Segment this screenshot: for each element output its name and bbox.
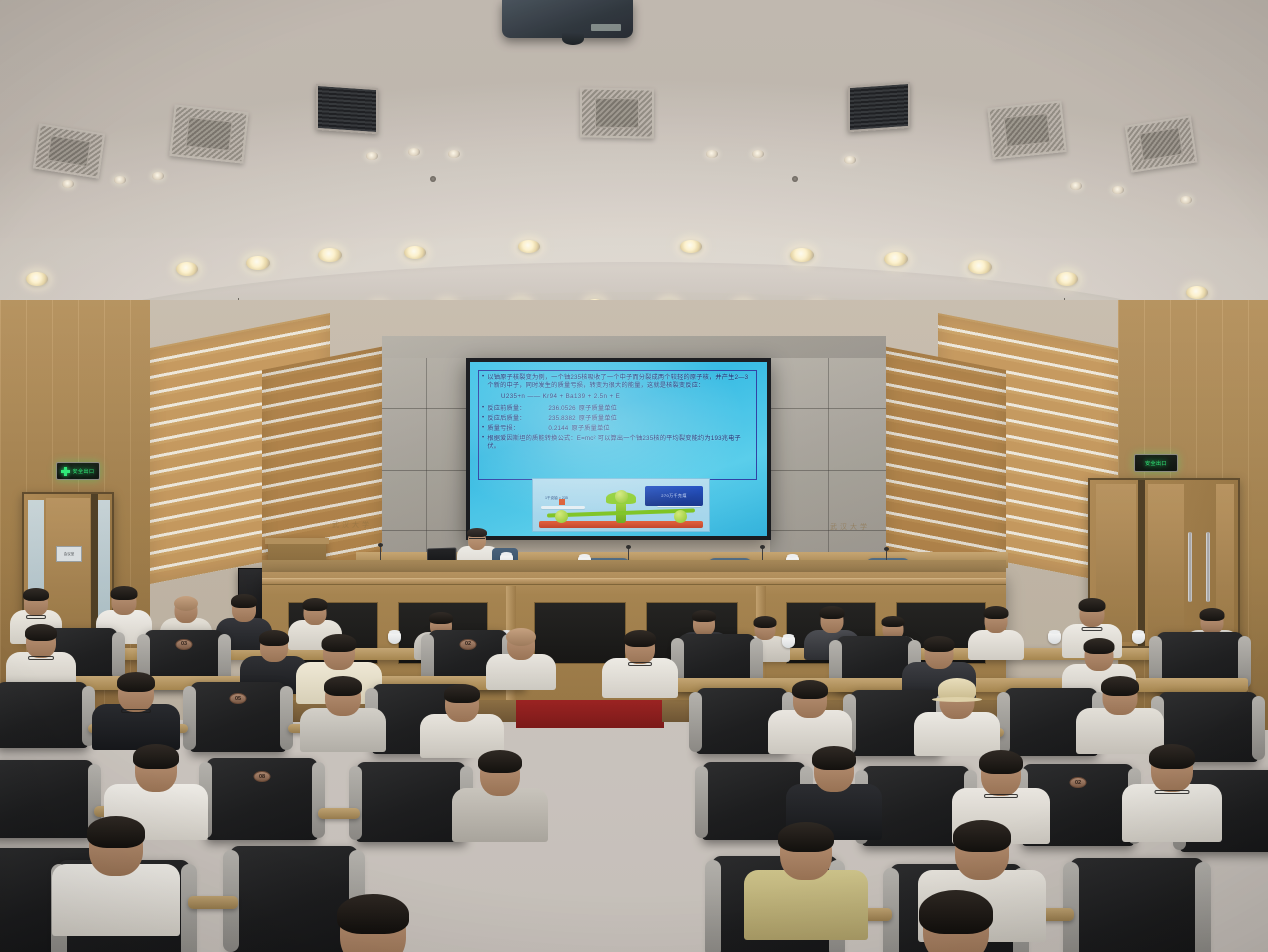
- person-hair: [478, 750, 522, 773]
- seat-number-badge: 05: [230, 693, 247, 704]
- seat-number-badge: 03: [176, 639, 193, 650]
- audience-member: [300, 678, 386, 752]
- person-hair: [133, 744, 179, 769]
- glasses-icon: [1155, 790, 1190, 794]
- person-hair: [882, 616, 905, 627]
- person-hair: [820, 606, 845, 619]
- smoke-sensor-icon: [430, 176, 436, 182]
- person-hair: [979, 750, 1023, 774]
- bullet-marker: •: [482, 374, 484, 382]
- hvac-diffuser-icon: [987, 100, 1066, 159]
- ceiling-spot: [366, 152, 378, 160]
- lecture-hall-photo: 武汉大学 武汉大学 • 以铀原子核裂变为例，一个铀235核吸收了一个中子而分裂成…: [0, 0, 1268, 952]
- wall-venue-text-right: 武汉大学: [830, 522, 870, 532]
- slide-value-pre-mass: 236.0526: [548, 405, 575, 413]
- bullet-marker: •: [482, 405, 484, 413]
- scale-weight-left: [555, 510, 568, 523]
- person-body: [452, 788, 548, 842]
- ceiling-downlight: [1056, 272, 1078, 286]
- audience-member: [486, 630, 556, 690]
- person-hair: [812, 746, 856, 770]
- ceiling-downlight: [790, 248, 814, 262]
- audience-member: [298, 896, 448, 952]
- balance-scale-illustration: 1千克铀 = 235 270万千克煤: [532, 478, 710, 532]
- audience-member: [880, 892, 1032, 952]
- scale-weight-center: [615, 490, 628, 503]
- person-hair: [1101, 676, 1139, 696]
- smoke-sensor-icon: [792, 176, 798, 182]
- slide-label-mass-defect: 质量亏损：: [487, 425, 545, 433]
- ceiling-spot: [408, 148, 420, 156]
- ceiling-spot: [1112, 186, 1124, 194]
- concrete-panel-right: [770, 352, 886, 574]
- auditorium-seat[interactable]: [356, 762, 466, 842]
- slide-bullet-5: • 质量亏损： 0.2144 原子质量单位: [479, 425, 756, 433]
- person-hair: [324, 676, 362, 696]
- audience-member: [914, 682, 1000, 756]
- door-handle[interactable]: [1188, 532, 1192, 602]
- bullet-marker: •: [482, 425, 484, 433]
- slide-bullet-text: 以铀原子核裂变为例，一个铀235核吸收了一个中子而分裂成两个较轻的原子核，并产生…: [487, 374, 753, 390]
- ceiling-spot: [152, 172, 164, 180]
- return-air-grille: [848, 82, 910, 132]
- person-hair: [322, 634, 357, 652]
- ceiling-downlight: [680, 240, 702, 253]
- person-hair: [231, 594, 257, 608]
- person-hair: [87, 816, 145, 848]
- presenter-hair: [467, 528, 487, 537]
- door-handle[interactable]: [1206, 532, 1210, 602]
- glasses-icon: [121, 709, 151, 713]
- ceiling-downlight: [518, 240, 540, 253]
- ceiling-downlight: [1186, 286, 1208, 299]
- slide-text-box: • 以铀原子核裂变为例，一个铀235核吸收了一个中子而分裂成两个较轻的原子核，并…: [478, 370, 757, 480]
- acoustic-wood-panel-right-inner: [886, 347, 1006, 582]
- exit-cross-icon: [61, 467, 70, 476]
- audience-member: [602, 632, 678, 698]
- bullet-marker: •: [482, 415, 484, 423]
- glasses-icon: [628, 662, 652, 666]
- person-hair: [778, 822, 834, 852]
- audience-member: [968, 608, 1024, 660]
- ceiling-downlight: [968, 260, 992, 274]
- person-hair: [953, 820, 1011, 852]
- person-hair: [984, 606, 1009, 619]
- person-hair: [1084, 638, 1115, 654]
- auditorium-seat[interactable]: [0, 682, 88, 748]
- glasses-icon: [28, 656, 54, 660]
- slide-unit-pre-mass: 原子质量单位: [579, 405, 617, 413]
- person-hair: [792, 680, 828, 699]
- presenter-glasses-icon: [469, 538, 485, 541]
- exit-sign-label: 安全出口: [1145, 460, 1167, 467]
- slide-equation-text: U235+n —— Kr94 + Ba139 + 2.5n + E: [501, 393, 753, 401]
- audience-member: [768, 682, 852, 754]
- person-hair: [303, 598, 328, 611]
- slide-value-mass-defect: 0.2144: [548, 425, 568, 433]
- ceiling-downlight: [26, 272, 48, 286]
- person-hair: [924, 636, 955, 652]
- ceiling-downlight: [176, 262, 198, 276]
- person-hair: [506, 628, 536, 646]
- person-hair: [1079, 598, 1106, 612]
- teacup: [388, 632, 401, 644]
- audience-member: [52, 818, 180, 936]
- ceiling-downlight: [246, 256, 270, 270]
- person-hair: [754, 616, 777, 628]
- ceiling-spot: [1070, 182, 1082, 190]
- scale-label: 1千克铀 = 235: [545, 496, 568, 501]
- ceiling-spot: [114, 176, 126, 184]
- glasses-icon: [1082, 627, 1103, 631]
- person-body: [744, 870, 868, 940]
- ceiling-spot: [62, 180, 74, 188]
- baseball-cap: [938, 678, 976, 700]
- ceiling-spot: [752, 150, 764, 158]
- auditorium-seat[interactable]: [1070, 858, 1204, 952]
- exit-sign-label: 安全出口: [72, 468, 94, 475]
- ceiling-spot: [1180, 196, 1192, 204]
- room-sign-plate: 会议室: [56, 546, 82, 562]
- person-body: [968, 630, 1024, 660]
- audience-member: [744, 824, 868, 940]
- slide-bullet-4: • 反应后质量： 235.8382 原子质量单位: [479, 415, 756, 423]
- seat-number-badge: 02: [460, 639, 477, 650]
- person-hair: [1149, 744, 1195, 769]
- seat-number-badge: 02: [1070, 777, 1087, 788]
- audience-member: [92, 674, 180, 750]
- audience-area: 03 02: [0, 596, 1268, 952]
- slide-unit-post-mass: 原子质量单位: [579, 415, 617, 423]
- projection-screen: • 以铀原子核裂变为例，一个铀235核吸收了一个中子而分裂成两个较轻的原子核，并…: [470, 362, 767, 536]
- hvac-diffuser-icon: [580, 87, 654, 138]
- exit-sign-left: 安全出口: [56, 462, 100, 480]
- audience-member: [1076, 678, 1164, 754]
- person-hair: [23, 588, 49, 601]
- person-hair: [337, 894, 409, 934]
- concrete-band-above-screen: [382, 336, 886, 358]
- auditorium-seat[interactable]: 05: [190, 682, 286, 752]
- teacup: [782, 636, 795, 648]
- hvac-diffuser-icon: [169, 104, 248, 163]
- audience-member: [420, 686, 504, 758]
- scale-pan-left: [541, 506, 585, 509]
- armrest: [188, 896, 238, 909]
- person-hair: [692, 610, 716, 622]
- person-hair: [1200, 608, 1225, 621]
- slide-bullet-6: • 根据爱因斯坦的质能转换公式：E=mc² 可以算出一个铀235核的平均裂变能约…: [479, 435, 756, 451]
- bullet-marker: •: [482, 435, 484, 443]
- ceiling-spot: [844, 156, 856, 164]
- ceiling-downlight: [318, 248, 342, 262]
- person-hair: [429, 612, 453, 624]
- exit-sign-right: 安全出口: [1134, 454, 1178, 472]
- auditorium-seat[interactable]: 08: [206, 758, 318, 840]
- audience-member: [1122, 746, 1222, 842]
- scale-weight-right: [674, 510, 687, 523]
- coal-comparison-card: 270万千克煤: [645, 486, 703, 506]
- person-hair: [919, 890, 993, 934]
- person-hair: [444, 684, 480, 703]
- glasses-icon: [26, 615, 46, 619]
- slide-equation: U235+n —— Kr94 + Ba139 + 2.5n + E: [479, 393, 756, 401]
- slide-unit-mass-defect: 原子质量单位: [571, 425, 609, 433]
- projection-screen-frame: • 以铀原子核裂变为例，一个铀235核吸收了一个中子而分裂成两个较轻的原子核，并…: [466, 358, 771, 540]
- slide-value-post-mass: 235.8382: [548, 415, 575, 423]
- person-hair: [259, 630, 289, 646]
- glasses-icon: [984, 794, 1018, 798]
- ceiling-spot: [706, 150, 718, 158]
- slide-bullet-3: • 反应前质量： 236.0526 原子质量单位: [479, 405, 756, 413]
- return-air-grille: [316, 84, 378, 134]
- person-hair: [174, 596, 198, 611]
- person-hair: [111, 586, 138, 600]
- person-hair: [117, 672, 155, 692]
- armrest: [318, 808, 360, 819]
- teacup: [1048, 632, 1061, 644]
- ceiling-downlight: [404, 246, 426, 259]
- ceiling-spot: [448, 150, 460, 158]
- slide-bullet-text: 根据爱因斯坦的质能转换公式：E=mc² 可以算出一个铀235核的平均裂变能约为1…: [487, 435, 753, 451]
- person-hair: [624, 630, 656, 647]
- slide-label-pre-mass: 反应前质量：: [487, 405, 545, 413]
- slide-bullet-1: • 以铀原子核裂变为例，一个铀235核吸收了一个中子而分裂成两个较轻的原子核，并…: [479, 374, 756, 390]
- seat-number-badge: 08: [254, 771, 271, 782]
- slide-label-post-mass: 反应后质量：: [487, 415, 545, 423]
- person-hair: [25, 624, 57, 641]
- ceiling-downlight: [884, 252, 908, 266]
- audience-member: [452, 752, 548, 842]
- podium-rail: [262, 578, 1006, 585]
- wall-venue-text-left: 武汉大学: [332, 520, 372, 530]
